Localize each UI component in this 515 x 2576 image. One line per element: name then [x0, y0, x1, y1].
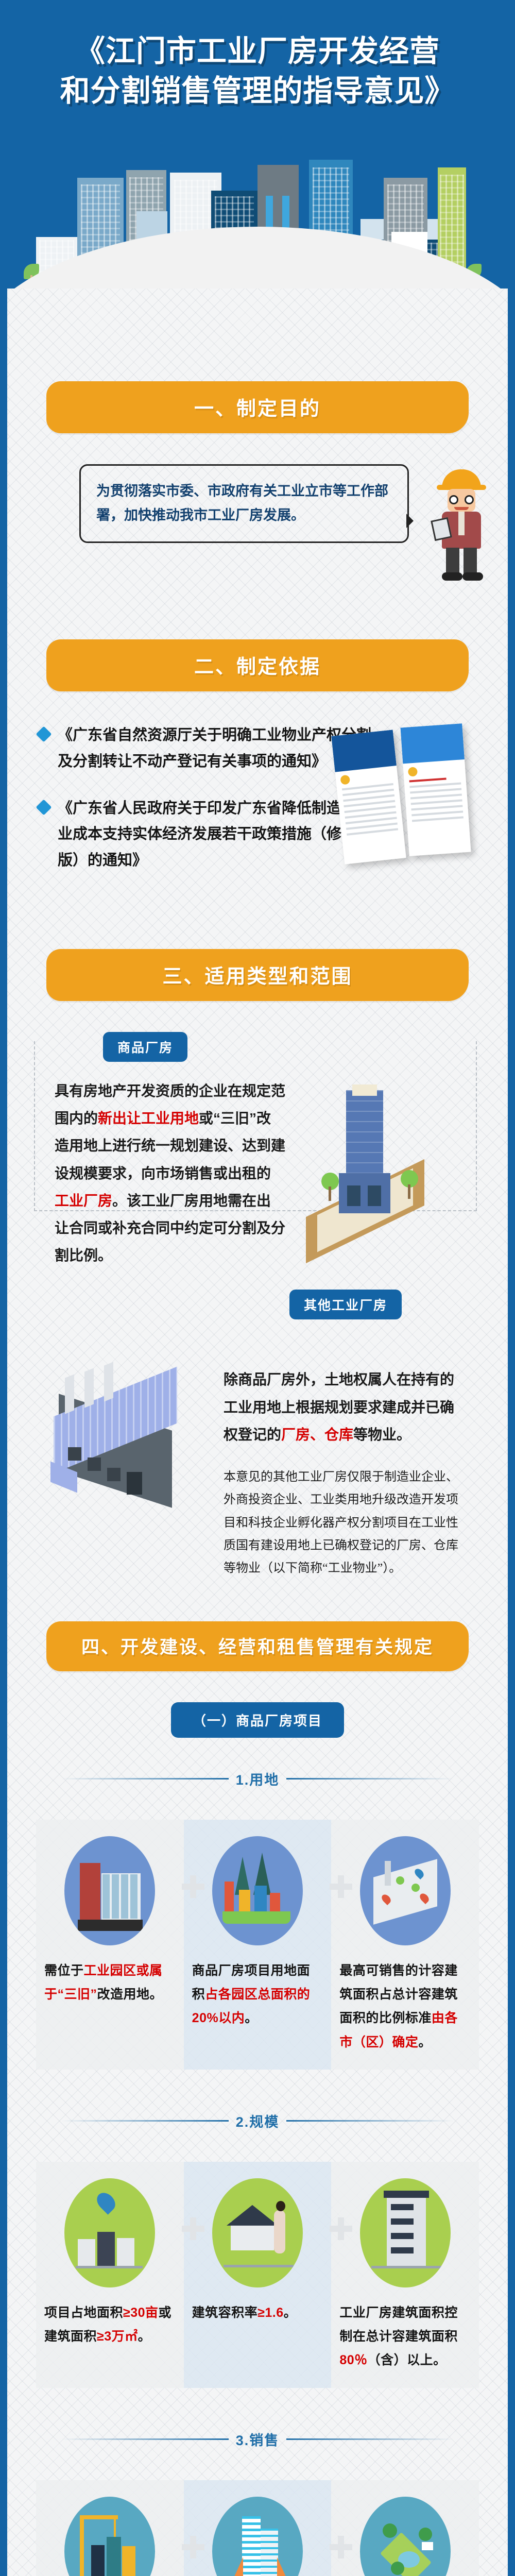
title-line-2: 和分割销售管理的指导意见》: [0, 72, 515, 111]
list-item: 《广东省人民政府关于印发广东省降低制造业企业成本支持实体经济发展若干政策措施（修…: [38, 795, 378, 874]
group-divider-2: 2.规模: [62, 2111, 453, 2131]
city-map-pin-icon: [64, 2178, 155, 2287]
group-label: 2.规模: [236, 2111, 280, 2131]
list-item: 《广东省自然资源厅关于明确工业物业产权分割及分割转让不动产登记有关事项的通知》: [38, 722, 378, 775]
document-thumbnail: [400, 723, 471, 856]
body-text: 需位于: [44, 1963, 84, 1978]
engineer-character-icon: [431, 469, 492, 583]
section-banner-3-label: 三、适用类型和范围: [62, 960, 453, 989]
info-card: 项目占地面积≥30亩或建筑面积≥3万㎡。: [36, 2162, 184, 2388]
group-divider-1: 1.用地: [62, 1769, 453, 1789]
apartment-block-icon: [360, 2178, 451, 2287]
info-card: 省级以上工业园区的商品厂房项目及其他经县级以上人民政府批准预售的商品厂房项目，可…: [36, 2480, 184, 2576]
purpose-text: 为贯彻落实市委、市政府有关工业立市等工作部署，加快推动我市工业厂房发展。: [96, 483, 388, 523]
regulation-card-groups: 1.用地需位于工业园区或属于“三旧”改造用地。商品厂房项目用地面积占各园区总面积…: [7, 1769, 508, 2576]
info-card: 商品厂房项目用地面积占各园区总面积的20%以内。: [184, 1820, 332, 2070]
section-banner-4-label: 四、开发建设、经营和租售管理有关规定: [62, 1633, 453, 1659]
highlighted-text: ≥30亩: [123, 2306, 159, 2320]
divider-line: [286, 1778, 453, 1780]
other-factory-description: 除商品厂房外，土地权属人在持有的工业用地上根据规划要求建成并已确权登记的厂房、仓…: [224, 1366, 466, 1448]
info-card: 产业类用房可按幢、层、套等固定界限销售；每个分割单元最小建筑面积≥300㎡。: [184, 2480, 332, 2576]
site-map-icon: [360, 1836, 451, 1945]
card-row: 项目占地面积≥30亩或建筑面积≥3万㎡。建筑容积率≥1.6。工业厂房建筑面积控制…: [36, 2162, 479, 2388]
card-text: 最高可销售的计容建筑面积占总计容建筑面积的比例标准由各市（区）确定。: [339, 1959, 471, 2054]
info-card: 需位于工业园区或属于“三旧”改造用地。: [36, 1820, 184, 2070]
subsection-label-commodity-projects: （一）商品厂房项目: [171, 1702, 344, 1738]
hero-banner: 《江门市工业厂房开发经营 和分割销售管理的指导意见》: [0, 0, 515, 289]
other-factory-note: 本意见的其他工业厂房仅限于制造业企业、外商投资企业、工业类用地升级改造开发项目和…: [224, 1466, 466, 1580]
green-park-icon: [360, 2497, 451, 2576]
section-banner-1: 一、制定目的: [46, 381, 469, 433]
office-tower-icon: [212, 2497, 303, 2576]
body-text: 。: [418, 2035, 432, 2049]
document-thumbnail: [331, 730, 406, 864]
group-label: 1.用地: [236, 1769, 280, 1789]
highlighted-text: ≥3万㎡: [97, 2329, 138, 2344]
page-title: 《江门市工业厂房开发经营 和分割销售管理的指导意见》: [0, 0, 515, 111]
plus-icon: [182, 2217, 204, 2240]
type-label-other-factory: 其他工业厂房: [289, 1290, 402, 1319]
info-card: 工业厂房建筑面积控制在总计容建筑面积80％（含）以上。: [331, 2162, 479, 2388]
tower-building-illustration: [285, 1077, 455, 1247]
divider-line: [62, 1778, 229, 1780]
crane-construction-icon: [64, 2497, 155, 2576]
warehouse-illustration: [7, 1340, 224, 1515]
body-text: 工业厂房建筑面积控制在总计容建筑面积: [339, 2306, 458, 2344]
purpose-speech-bubble: 为贯彻落实市委、市政府有关工业立市等工作部署，加快推动我市工业厂房发展。: [79, 464, 409, 543]
factory-building-icon: [64, 1836, 155, 1945]
body-text: 。: [138, 2329, 151, 2344]
plus-icon: [182, 1875, 204, 1898]
body-text: 项目占地面积: [44, 2306, 123, 2320]
highlighted-text: ≥1.6: [257, 2306, 283, 2320]
plus-icon: [330, 2217, 352, 2240]
section-banner-2: 二、制定依据: [46, 639, 469, 691]
card-text: 商品厂房项目用地面积占各园区总面积的20%以内。: [192, 1959, 323, 2030]
legal-basis-item-text: 《广东省自然资源厅关于明确工业物业产权分割及分割转让不动产登记有关事项的通知》: [58, 722, 378, 775]
diamond-bullet-icon: [36, 799, 51, 815]
legal-basis-item-text: 《广东省人民政府关于印发广东省降低制造业企业成本支持实体经济发展若干政策措施（修…: [58, 795, 378, 874]
divider-line: [62, 2438, 229, 2440]
highlighted-text: 厂房、仓库: [281, 1427, 353, 1443]
highlighted-text: 80％: [339, 2353, 367, 2367]
body-text: 。: [245, 2011, 258, 2025]
title-line-1: 《江门市工业厂房开发经营: [0, 32, 515, 72]
card-text: 需位于工业园区或属于“三旧”改造用地。: [44, 1959, 176, 2007]
card-text: 建筑容积率≥1.6。: [192, 2301, 323, 2325]
body-text: 等物业。: [353, 1427, 411, 1443]
infographic-poster: 《江门市工业厂房开发经营 和分割销售管理的指导意见》: [0, 0, 515, 2576]
info-card: 最高可销售的计容建筑面积占总计容建筑面积的比例标准由各市（区）确定。: [331, 1820, 479, 2070]
divider-line: [62, 2120, 229, 2122]
poster-body: 一、制定目的 为贯彻落实市委、市政府有关工业立市等工作部署，加快推动我市工业厂房…: [0, 289, 515, 2576]
industrial-park-icon: [212, 1836, 303, 1945]
info-card: 建筑容积率≥1.6。: [184, 2162, 332, 2388]
section-banner-3: 三、适用类型和范围: [46, 949, 469, 1001]
group-label: 3.销售: [236, 2429, 280, 2449]
plus-icon: [330, 1875, 352, 1898]
body-text: （含）以上。: [368, 2353, 447, 2367]
divider-line: [286, 2120, 453, 2122]
section-banner-2-label: 二、制定依据: [62, 651, 453, 679]
card-row: 需位于工业园区或属于“三旧”改造用地。商品厂房项目用地面积占各园区总面积的20%…: [36, 1820, 479, 2070]
plus-icon: [330, 2536, 352, 2558]
body-text: 建筑容积率: [192, 2306, 258, 2320]
plus-icon: [182, 2536, 204, 2558]
info-card: 办公、生活服务等配套用房随产业类用房按规定比例进行分割、分割转让、抵押。: [331, 2480, 479, 2576]
card-text: 工业厂房建筑面积控制在总计容建筑面积80％（含）以上。: [339, 2301, 471, 2372]
group-divider-3: 3.销售: [62, 2429, 453, 2449]
card-text: 项目占地面积≥30亩或建筑面积≥3万㎡。: [44, 2301, 176, 2349]
diamond-bullet-icon: [36, 726, 51, 742]
section-banner-4: 四、开发建设、经营和租售管理有关规定: [46, 1621, 469, 1671]
body-text: 。: [284, 2306, 297, 2320]
body-text: 改造用地。: [97, 1987, 163, 2002]
section-banner-1-label: 一、制定目的: [62, 393, 453, 421]
divider-line: [286, 2438, 453, 2440]
house-person-icon: [212, 2178, 303, 2287]
card-row: 省级以上工业园区的商品厂房项目及其他经县级以上人民政府批准预售的商品厂房项目，可…: [36, 2480, 479, 2576]
document-thumbnails: [333, 722, 487, 882]
